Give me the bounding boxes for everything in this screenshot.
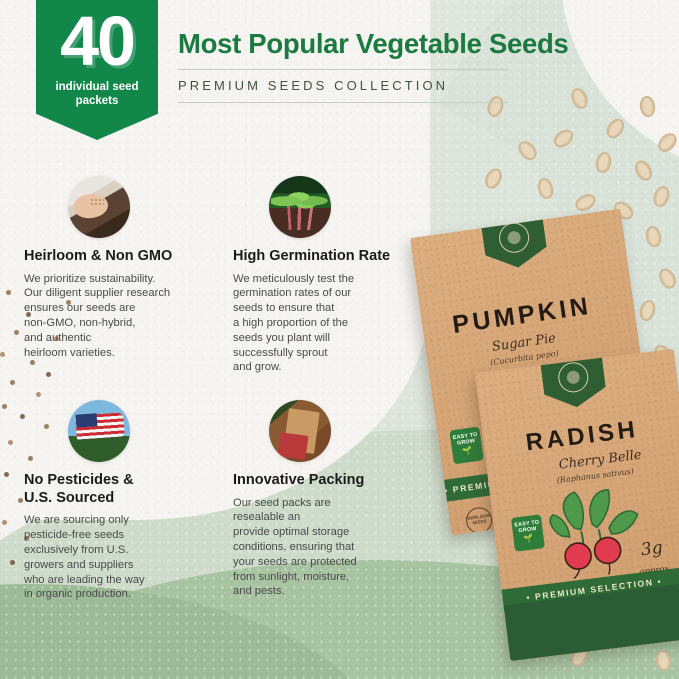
leaf-icon: 🌱 <box>513 533 544 546</box>
promo-infographic: 40 individual seed packets Most Popular … <box>0 0 679 679</box>
feature-title: Innovative Packing <box>233 472 421 490</box>
feature-body: We are sourcing only pesticide-free seed… <box>24 513 212 602</box>
badge-caption-line2: packets <box>76 95 119 107</box>
feature-title: No Pesticides & U.S. Sourced <box>24 472 212 507</box>
feature-body: We meticulously test the germination rat… <box>233 272 421 375</box>
usa-flag-icon <box>68 400 130 462</box>
header: Most Popular Vegetable Seeds PREMIUM SEE… <box>178 28 578 103</box>
brand-logo-icon <box>497 221 531 255</box>
easy-to-grow-badge: EASY TO GROW 🌱 <box>511 514 545 551</box>
seedling-sprout-icon <box>269 176 331 238</box>
badge-count: 40 <box>36 6 158 76</box>
feature-body: Our seed packs are resealable an provide… <box>233 496 421 599</box>
easy-to-grow-badge: EASY TO GROW 🌱 <box>449 426 483 464</box>
badge-caption: individual seed packets <box>36 80 158 109</box>
seed-count-badge: 40 individual seed packets <box>36 0 158 140</box>
brand-logo-icon <box>557 360 590 393</box>
feature-title: High Germination Rate <box>233 248 421 266</box>
feature-innovative-packing: Innovative Packing Our seed packs are re… <box>233 400 421 599</box>
feature-body: We prioritize sustainability. Our dilige… <box>24 272 212 361</box>
leaf-icon: 🌱 <box>452 445 483 458</box>
feature-title: Heirloom & Non GMO <box>24 248 212 266</box>
feature-no-pesticides-us-sourced: No Pesticides & U.S. Sourced We are sour… <box>24 400 212 602</box>
badge-caption-line1: individual seed <box>55 81 138 93</box>
easy-badge-line2: GROW <box>518 526 537 534</box>
seed-packet-icon <box>269 400 331 462</box>
feature-heirloom-non-gmo: Heirloom & Non GMO We prioritize sustain… <box>24 176 212 360</box>
feature-high-germination-rate: High Germination Rate We meticulously te… <box>233 176 421 375</box>
header-divider-bottom <box>178 102 508 103</box>
hand-holding-seeds-icon <box>68 176 130 238</box>
seed-packet-radish: RADISH Cherry Belle (Raphanus sativus) E… <box>475 349 679 661</box>
header-subtitle: PREMIUM SEEDS COLLECTION <box>178 70 578 102</box>
packet-weight: 3g <box>640 538 664 560</box>
page-title: Most Popular Vegetable Seeds <box>178 28 578 60</box>
